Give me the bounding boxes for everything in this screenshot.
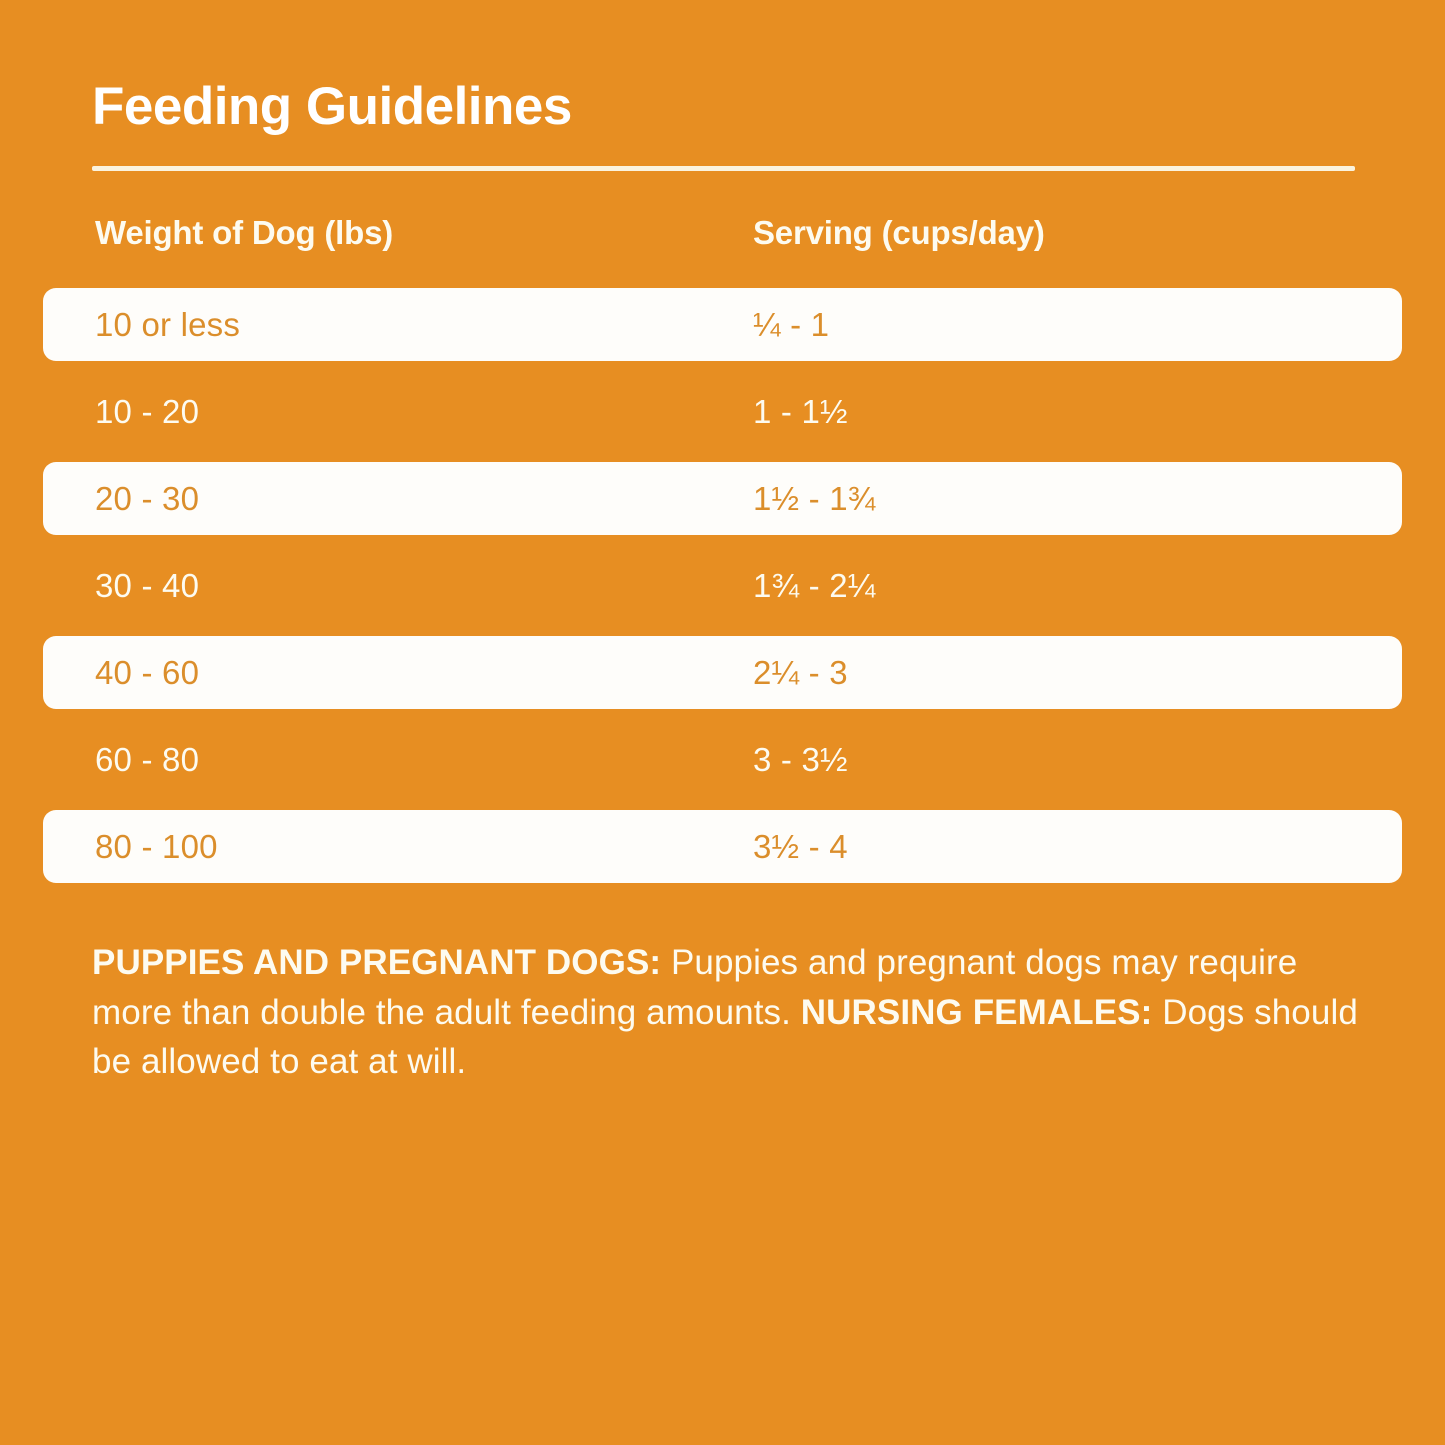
cell-serving: ¼ - 1 bbox=[753, 306, 829, 344]
cell-serving: 1½ - 1¾ bbox=[753, 480, 875, 518]
cell-weight: 10 or less bbox=[95, 306, 240, 344]
cell-serving: 3 - 3½ bbox=[753, 741, 848, 779]
cell-weight: 80 - 100 bbox=[95, 828, 218, 866]
cell-serving: 2¼ - 3 bbox=[753, 654, 848, 692]
cell-weight: 10 - 20 bbox=[95, 393, 199, 431]
feeding-table: 10 or less¼ - 110 - 201 - 1½20 - 301½ - … bbox=[0, 288, 1445, 897]
page-title: Feeding Guidelines bbox=[92, 78, 572, 136]
column-header-serving: Serving (cups/day) bbox=[753, 214, 1045, 252]
feeding-guidelines-panel: Feeding Guidelines Weight of Dog (lbs) S… bbox=[0, 0, 1445, 1445]
footnote: PUPPIES AND PREGNANT DOGS: Puppies and p… bbox=[92, 938, 1367, 1087]
column-header-weight: Weight of Dog (lbs) bbox=[95, 214, 393, 252]
cell-serving: 1 - 1½ bbox=[753, 393, 848, 431]
table-column-headers: Weight of Dog (lbs) Serving (cups/day) bbox=[0, 214, 1445, 264]
table-row: 60 - 803 - 3½ bbox=[43, 723, 1402, 796]
cell-weight: 30 - 40 bbox=[95, 567, 199, 605]
cell-serving: 1¾ - 2¼ bbox=[753, 567, 875, 605]
table-row: 40 - 602¼ - 3 bbox=[43, 636, 1402, 709]
cell-weight: 40 - 60 bbox=[95, 654, 199, 692]
table-row: 20 - 301½ - 1¾ bbox=[43, 462, 1402, 535]
table-row: 10 - 201 - 1½ bbox=[43, 375, 1402, 448]
footnote-nursing-label: NURSING FEMALES: bbox=[801, 993, 1153, 1032]
table-row: 30 - 401¾ - 2¼ bbox=[43, 549, 1402, 622]
table-row: 80 - 1003½ - 4 bbox=[43, 810, 1402, 883]
title-divider bbox=[92, 166, 1355, 171]
cell-weight: 20 - 30 bbox=[95, 480, 199, 518]
footnote-puppies-label: PUPPIES AND PREGNANT DOGS: bbox=[92, 943, 661, 982]
table-row: 10 or less¼ - 1 bbox=[43, 288, 1402, 361]
cell-serving: 3½ - 4 bbox=[753, 828, 848, 866]
cell-weight: 60 - 80 bbox=[95, 741, 199, 779]
